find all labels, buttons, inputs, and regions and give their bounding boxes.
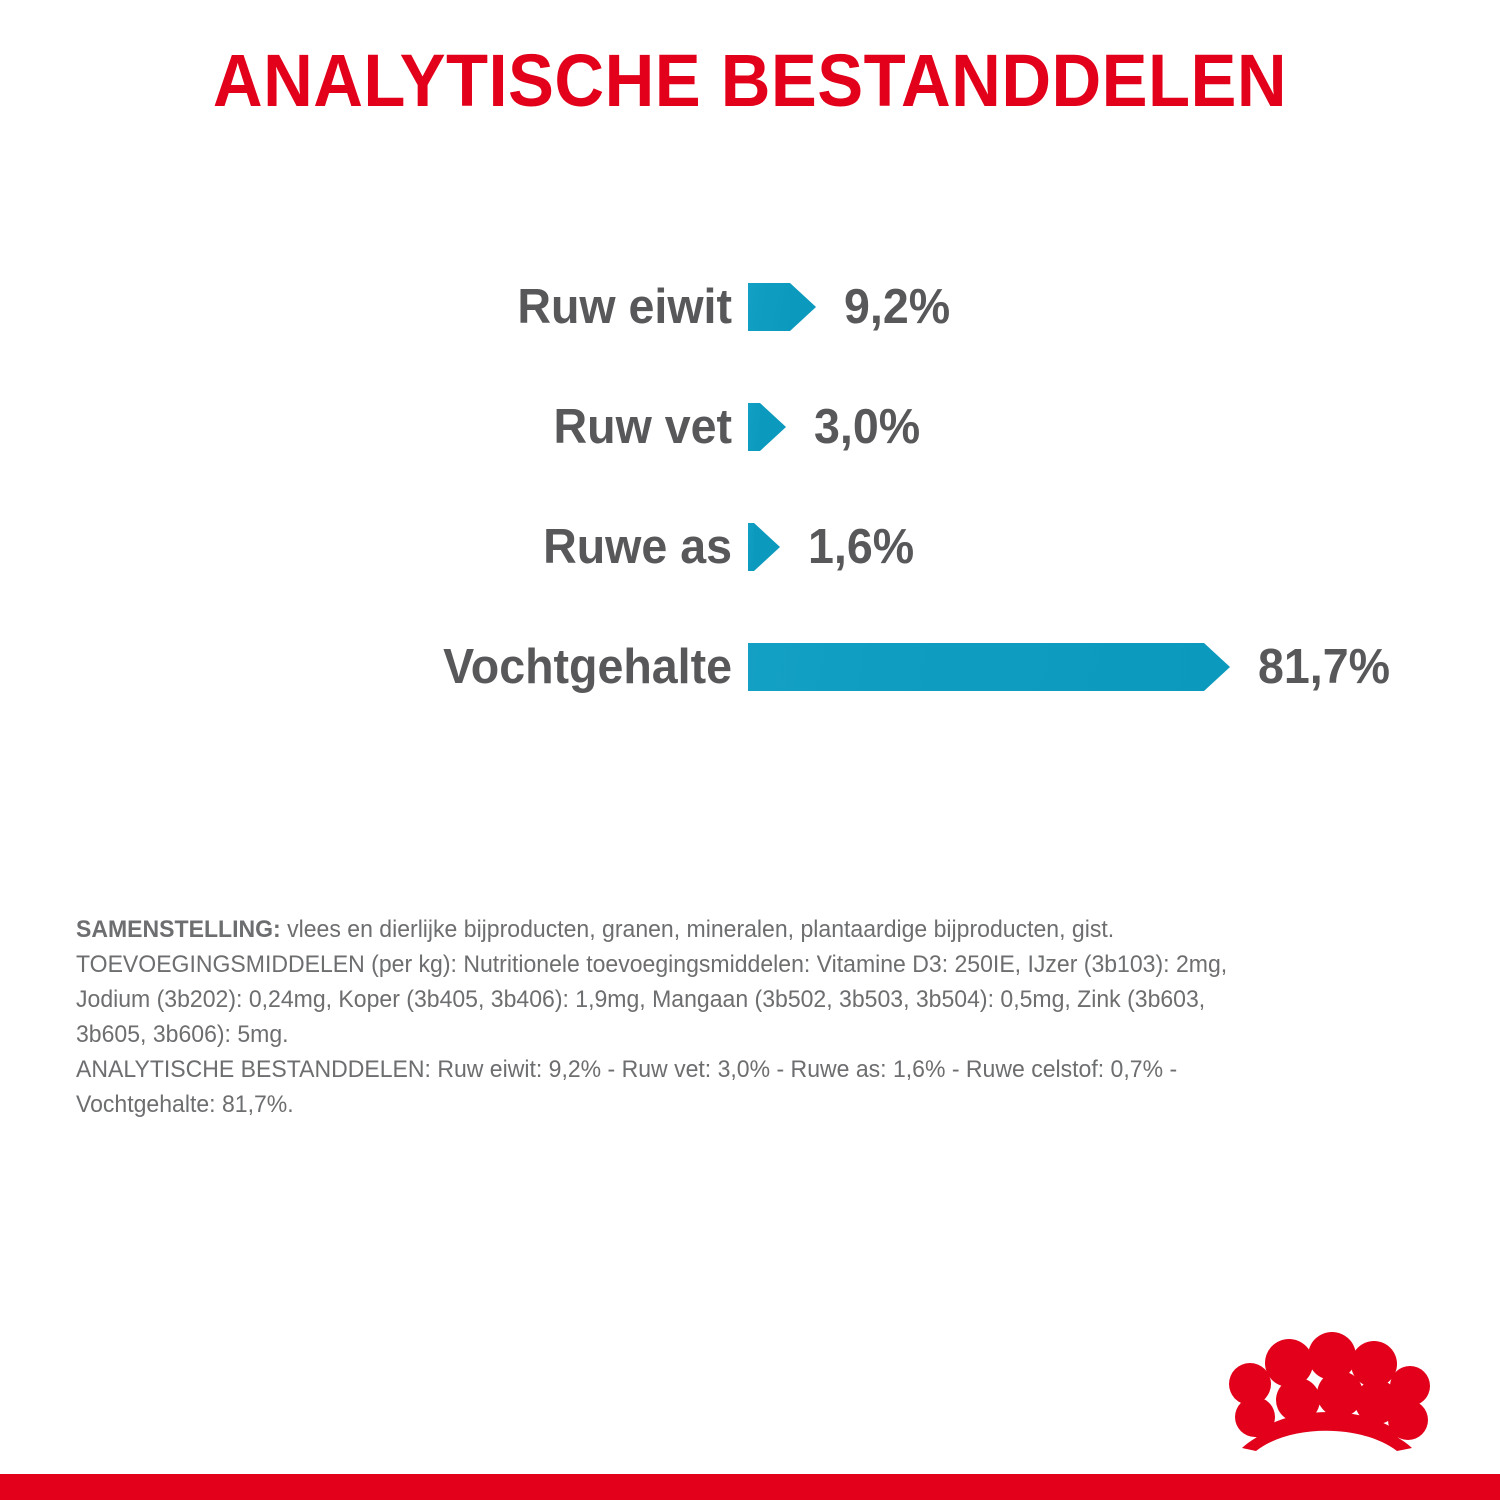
composition-line-3: Jodium (3b202): 0,24mg, Koper (3b405, 3b… — [76, 982, 1345, 1017]
nutrient-label: Ruw vet — [37, 392, 732, 462]
nutrient-row: Vochtgehalte 81,7% — [0, 632, 1500, 752]
nutrient-bar-track — [748, 523, 754, 571]
nutrient-label: Vochtgehalte — [37, 632, 732, 702]
nutrient-row: Ruw vet 3,0% — [0, 392, 1500, 512]
nutrient-row: Ruwe as 1,6% — [0, 512, 1500, 632]
composition-heading: SAMENSTELLING: — [76, 916, 281, 943]
composition-line-2: TOEVOEGINGSMIDDELEN (per kg): Nutritione… — [76, 947, 1345, 982]
composition-line-1: SAMENSTELLING: vlees en dierlijke bijpro… — [76, 912, 1345, 947]
page-title: ANALYTISCHE BESTANDDELEN — [53, 44, 1448, 118]
nutrient-value: 1,6% — [808, 512, 914, 582]
nutrient-label: Ruw eiwit — [37, 272, 732, 342]
registered-trademark-symbol: ® — [1411, 1418, 1426, 1438]
composition-line-6: Vochtgehalte: 81,7%. — [76, 1087, 1345, 1122]
nutrient-value: 9,2% — [844, 272, 950, 342]
composition-line-4: 3b605, 3b606): 5mg. — [76, 1017, 1345, 1052]
nutrient-label: Ruwe as — [37, 512, 732, 582]
composition-block: SAMENSTELLING: vlees en dierlijke bijpro… — [76, 912, 1345, 1122]
nutrient-bar-track — [748, 403, 760, 451]
nutrient-row: Ruw eiwit 9,2% — [0, 272, 1500, 392]
nutrient-bar-track — [748, 643, 1204, 691]
composition-line-5: ANALYTISCHE BESTANDDELEN: Ruw eiwit: 9,2… — [76, 1052, 1345, 1087]
analytical-constituents-chart: Ruw eiwit 9,2% Ruw vet 3,0% Ruwe as 1,6%… — [0, 272, 1500, 752]
nutrient-bar — [748, 283, 790, 331]
nutrient-bar — [748, 643, 1204, 691]
crown-icon — [1222, 1332, 1432, 1452]
composition-ingredients: vlees en dierlijke bijproducten, granen,… — [281, 916, 1114, 943]
royal-canin-crown-logo: ® — [1222, 1332, 1432, 1452]
nutrient-value: 81,7% — [1258, 632, 1390, 702]
nutrient-bar-track — [748, 283, 790, 331]
nutrient-bar — [748, 523, 754, 571]
footer-accent-band — [0, 1474, 1500, 1500]
nutrient-bar — [748, 403, 760, 451]
nutrient-value: 3,0% — [814, 392, 920, 462]
